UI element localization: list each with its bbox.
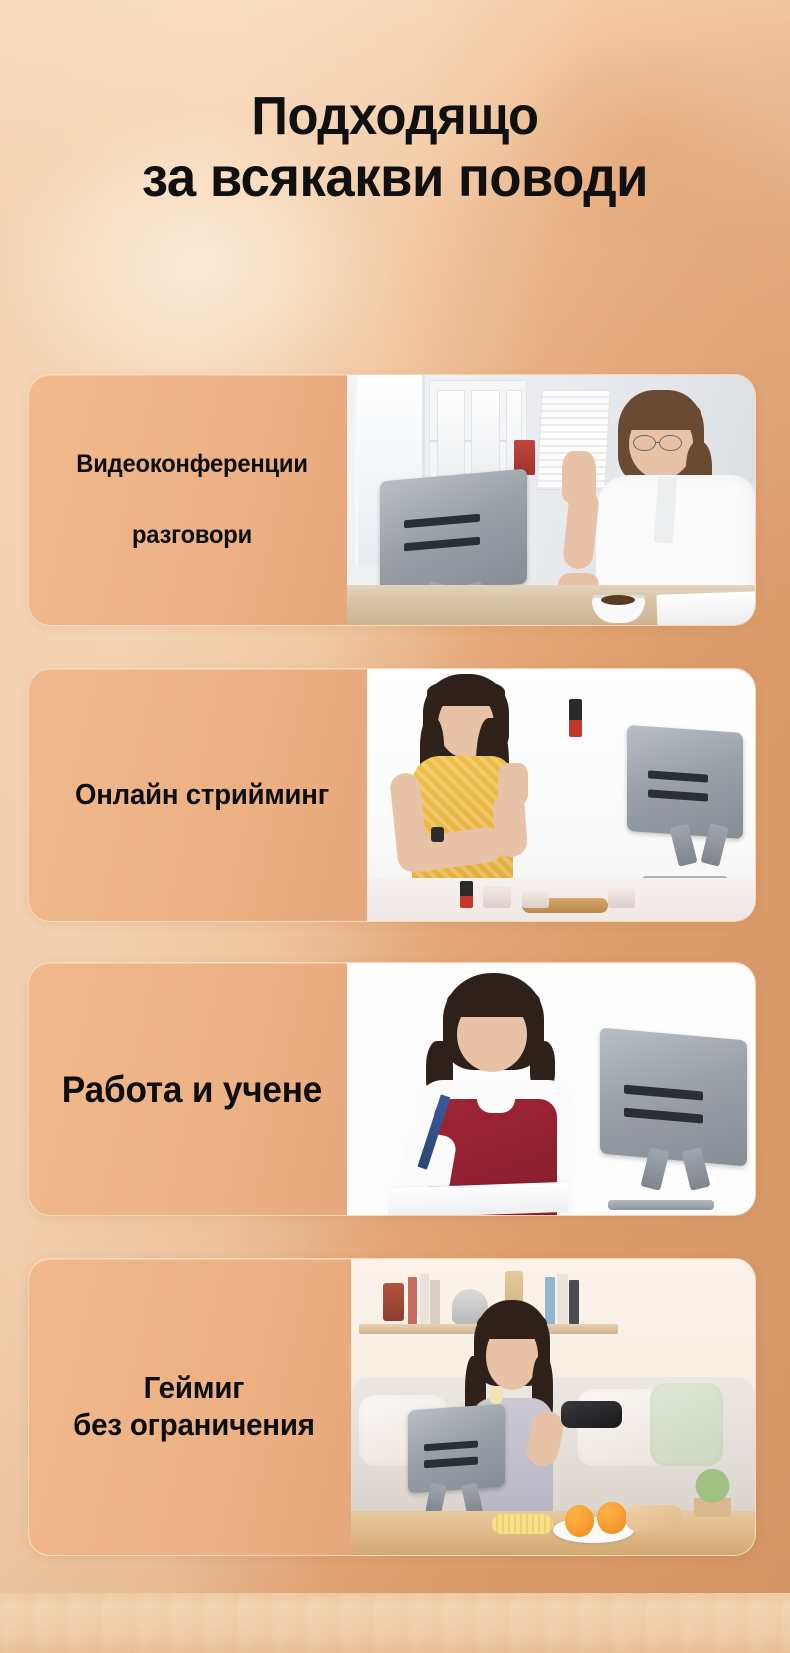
feature-card-work-and-study[interactable]: Работа и учене [28,962,756,1216]
feature-photo-work-and-study [347,963,755,1215]
feature-card-online-streaming[interactable]: Онлайн стрийминг [28,668,756,922]
feature-label-line-2: без ограничения [58,1407,330,1444]
feature-card-label: Онлайн стрийминг [29,669,367,921]
feature-label-line-1: Работа и учене [58,1071,326,1108]
page-title: Подходящо за всякакви поводи [0,86,790,209]
feature-card-label: Геймиг без ограничения [29,1259,351,1555]
feature-card-label: Работа и учене [29,963,347,1215]
product-feature-page: Подходящо за всякакви поводи Видеоконфер… [0,0,790,1653]
feature-label-line-1: Геймиг [58,1370,330,1407]
feature-photo-online-streaming [367,669,755,921]
page-title-line-1: Подходящо [31,86,759,146]
feature-card-video-conference[interactable]: Видеоконференции разговори [28,374,756,626]
feature-label-line-2: разговори [58,523,326,548]
feature-card-label: Видеоконференции разговори [29,375,347,625]
background-bottom-strip [0,1593,790,1653]
feature-label-line-1: Видеоконференции [58,452,326,477]
feature-label-line-1: Онлайн стрийминг [59,781,346,810]
feature-card-gaming[interactable]: Геймиг без ограничения [28,1258,756,1556]
feature-photo-video-conference [347,375,755,625]
feature-photo-gaming [351,1259,755,1555]
page-title-line-2: за всякакви поводи [31,146,759,209]
